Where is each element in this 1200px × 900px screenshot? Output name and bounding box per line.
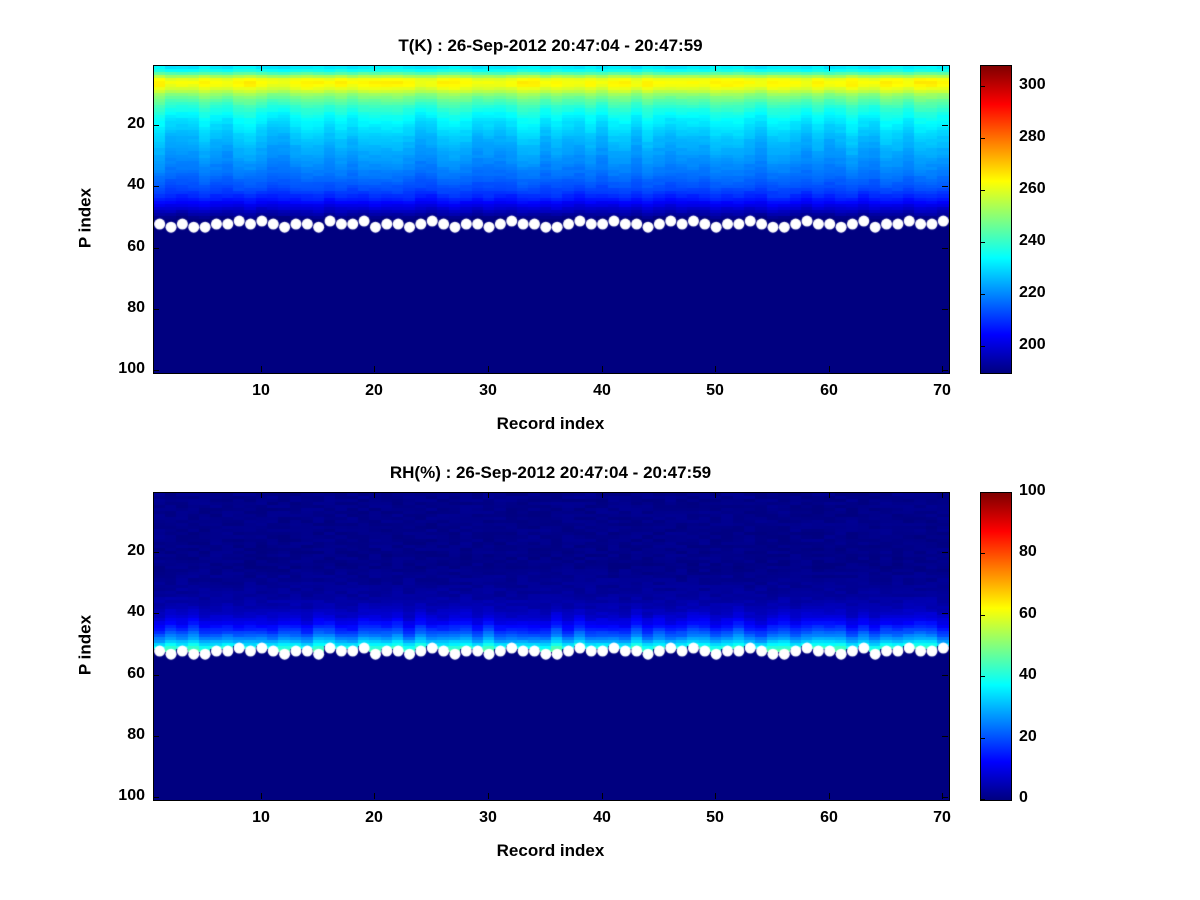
x-axis-label-temperature: Record index <box>153 414 948 434</box>
x-tick-label: 70 <box>912 382 972 400</box>
x-tick-label: 30 <box>458 809 518 827</box>
x-tick-mark <box>715 793 716 799</box>
colorbar-tick-mark <box>980 799 985 800</box>
panel-title-temperature: T(K) : 26-Sep-2012 20:47:04 - 20:47:59 <box>153 36 948 56</box>
x-tick-mark <box>829 492 830 498</box>
y-tick-mark <box>153 613 159 614</box>
temperature-axes <box>153 65 950 374</box>
y-tick-mark <box>942 125 948 126</box>
x-tick-mark <box>488 793 489 799</box>
y-tick-mark <box>942 736 948 737</box>
colorbar-tick-mark <box>980 242 985 243</box>
colorbar-tick-label: 200 <box>1019 336 1046 354</box>
y-tick-label: 40 <box>99 176 145 194</box>
x-tick-mark <box>942 492 943 498</box>
y-tick-label: 60 <box>99 238 145 256</box>
colorbar-tick-mark <box>980 190 985 191</box>
y-tick-label: 100 <box>99 360 145 378</box>
colorbar-tick-label: 40 <box>1019 666 1037 684</box>
colorbar-tick-mark <box>980 553 985 554</box>
colorbar-tick-label: 220 <box>1019 284 1046 302</box>
x-tick-label: 40 <box>572 809 632 827</box>
x-tick-mark <box>602 492 603 498</box>
x-tick-mark <box>488 492 489 498</box>
relative-humidity-axes <box>153 492 950 801</box>
y-tick-mark <box>153 309 159 310</box>
panel-title-relative-humidity: RH(%) : 26-Sep-2012 20:47:04 - 20:47:59 <box>153 463 948 483</box>
x-tick-mark <box>488 366 489 372</box>
x-tick-mark <box>374 65 375 71</box>
colorbar-tick-label: 240 <box>1019 232 1046 250</box>
colorbar-tick-mark <box>980 294 985 295</box>
y-axis-label-temperature: P index <box>75 64 95 371</box>
colorbar-tick-mark <box>980 492 985 493</box>
y-tick-mark <box>153 675 159 676</box>
x-tick-mark <box>602 366 603 372</box>
x-tick-label: 50 <box>685 382 745 400</box>
y-tick-mark <box>153 186 159 187</box>
colorbar-tick-mark <box>980 86 985 87</box>
x-tick-mark <box>261 793 262 799</box>
y-tick-mark <box>942 186 948 187</box>
colorbar-tick-mark <box>980 615 985 616</box>
colorbar-gradient <box>981 66 1011 373</box>
y-tick-mark <box>942 248 948 249</box>
y-tick-label: 80 <box>99 726 145 744</box>
x-tick-mark <box>261 366 262 372</box>
colorbar-tick-label: 280 <box>1019 128 1046 146</box>
x-tick-label: 10 <box>231 809 291 827</box>
colorbar-gradient <box>981 493 1011 800</box>
x-tick-mark <box>942 793 943 799</box>
colorbar-tick-mark <box>980 676 985 677</box>
x-tick-mark <box>942 366 943 372</box>
relative-humidity-colorbar <box>980 492 1012 801</box>
x-tick-mark <box>261 65 262 71</box>
x-tick-mark <box>715 366 716 372</box>
colorbar-tick-mark <box>980 738 985 739</box>
x-tick-mark <box>374 793 375 799</box>
y-tick-mark <box>153 736 159 737</box>
y-tick-label: 20 <box>99 542 145 560</box>
y-tick-mark <box>153 552 159 553</box>
x-tick-mark <box>602 793 603 799</box>
x-tick-mark <box>942 65 943 71</box>
y-tick-label: 20 <box>99 115 145 133</box>
y-tick-mark <box>153 797 159 798</box>
y-tick-mark <box>153 370 159 371</box>
x-tick-mark <box>829 65 830 71</box>
x-tick-mark <box>261 492 262 498</box>
colorbar-tick-mark <box>980 346 985 347</box>
y-tick-label: 80 <box>99 299 145 317</box>
x-tick-label: 50 <box>685 809 745 827</box>
x-tick-mark <box>829 793 830 799</box>
colorbar-tick-label: 80 <box>1019 543 1037 561</box>
x-tick-mark <box>488 65 489 71</box>
x-tick-label: 20 <box>344 382 404 400</box>
x-tick-label: 10 <box>231 382 291 400</box>
y-tick-mark <box>942 309 948 310</box>
colorbar-tick-label: 20 <box>1019 728 1037 746</box>
y-tick-mark <box>153 248 159 249</box>
temperature-colorbar <box>980 65 1012 374</box>
relative-humidity-heatmap-canvas <box>154 493 949 800</box>
y-tick-mark <box>942 675 948 676</box>
x-tick-mark <box>602 65 603 71</box>
colorbar-tick-label: 300 <box>1019 76 1046 94</box>
x-axis-label-relative-humidity: Record index <box>153 841 948 861</box>
x-tick-mark <box>715 65 716 71</box>
x-tick-label: 60 <box>799 809 859 827</box>
x-tick-label: 20 <box>344 809 404 827</box>
colorbar-tick-label: 100 <box>1019 482 1046 500</box>
colorbar-tick-label: 260 <box>1019 180 1046 198</box>
y-tick-mark <box>153 125 159 126</box>
colorbar-tick-mark <box>980 138 985 139</box>
x-tick-label: 30 <box>458 382 518 400</box>
y-tick-mark <box>942 552 948 553</box>
y-tick-label: 100 <box>99 787 145 805</box>
colorbar-tick-label: 0 <box>1019 789 1028 807</box>
x-tick-mark <box>374 492 375 498</box>
temperature-heatmap-canvas <box>154 66 949 373</box>
x-tick-mark <box>715 492 716 498</box>
y-tick-label: 60 <box>99 665 145 683</box>
x-tick-label: 60 <box>799 382 859 400</box>
x-tick-label: 70 <box>912 809 972 827</box>
y-axis-label-relative-humidity: P index <box>75 491 95 798</box>
y-tick-label: 40 <box>99 603 145 621</box>
x-tick-mark <box>374 366 375 372</box>
matlab-figure-window: T(K) : 26-Sep-2012 20:47:04 - 20:47:59 P… <box>0 0 1200 900</box>
x-tick-mark <box>829 366 830 372</box>
colorbar-tick-label: 60 <box>1019 605 1037 623</box>
y-tick-mark <box>942 613 948 614</box>
x-tick-label: 40 <box>572 382 632 400</box>
